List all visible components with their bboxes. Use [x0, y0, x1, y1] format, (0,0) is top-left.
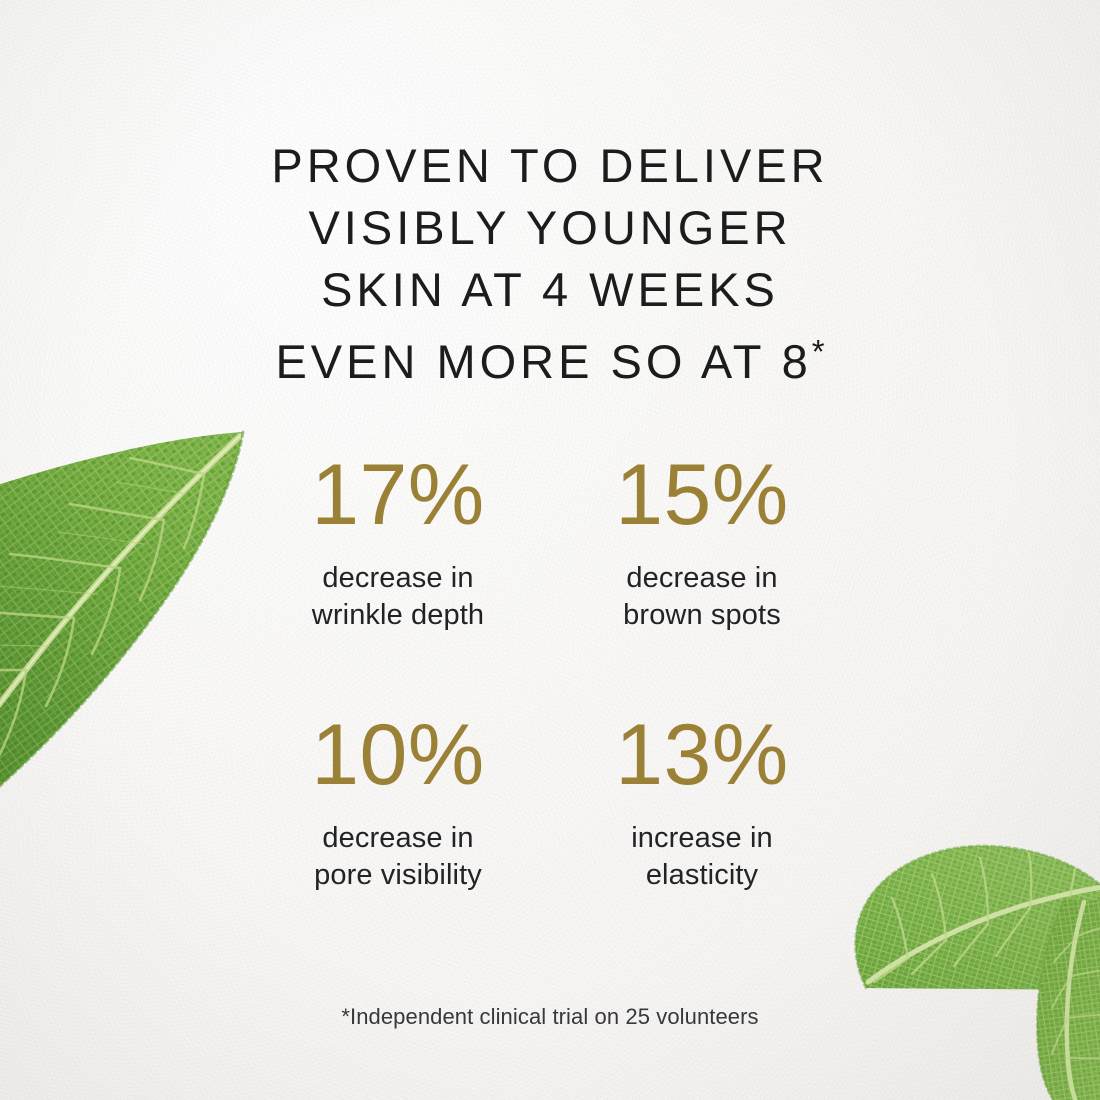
- stat-value: 13%: [559, 712, 845, 798]
- headline-line-1: PROVEN TO DELIVER: [0, 135, 1100, 197]
- stat-value: 15%: [559, 452, 845, 538]
- stat-label-line-2: brown spots: [559, 597, 845, 634]
- promo-graphic: PROVEN TO DELIVER VISIBLY YOUNGER SKIN A…: [0, 0, 1100, 1100]
- footnote: *Independent clinical trial on 25 volunt…: [0, 1004, 1100, 1030]
- stat-label-line-1: decrease in: [255, 820, 541, 857]
- stat-value: 17%: [255, 452, 541, 538]
- stat-item: 17% decrease in wrinkle depth: [255, 452, 541, 634]
- stat-label-line-2: pore visibility: [255, 857, 541, 894]
- stat-label-line-2: elasticity: [559, 857, 845, 894]
- headline-line-4-text: EVEN MORE SO AT 8: [275, 336, 811, 389]
- statistics-grid: 17% decrease in wrinkle depth 15% decrea…: [255, 452, 845, 894]
- stat-label: increase in elasticity: [559, 820, 845, 894]
- page-title: PROVEN TO DELIVER VISIBLY YOUNGER SKIN A…: [0, 135, 1100, 393]
- stat-label: decrease in brown spots: [559, 560, 845, 634]
- stat-item: 10% decrease in pore visibility: [255, 712, 541, 894]
- stat-item: 15% decrease in brown spots: [559, 452, 845, 634]
- headline-line-3: SKIN AT 4 WEEKS: [0, 259, 1100, 321]
- headline-asterisk: *: [812, 333, 825, 370]
- stat-label-line-2: wrinkle depth: [255, 597, 541, 634]
- stat-label-line-1: decrease in: [255, 560, 541, 597]
- stat-label: decrease in pore visibility: [255, 820, 541, 894]
- headline-line-2: VISIBLY YOUNGER: [0, 197, 1100, 259]
- headline-line-4: EVEN MORE SO AT 8*: [0, 321, 1100, 393]
- stat-label: decrease in wrinkle depth: [255, 560, 541, 634]
- stat-value: 10%: [255, 712, 541, 798]
- stat-label-line-1: decrease in: [559, 560, 845, 597]
- stat-item: 13% increase in elasticity: [559, 712, 845, 894]
- stat-label-line-1: increase in: [559, 820, 845, 857]
